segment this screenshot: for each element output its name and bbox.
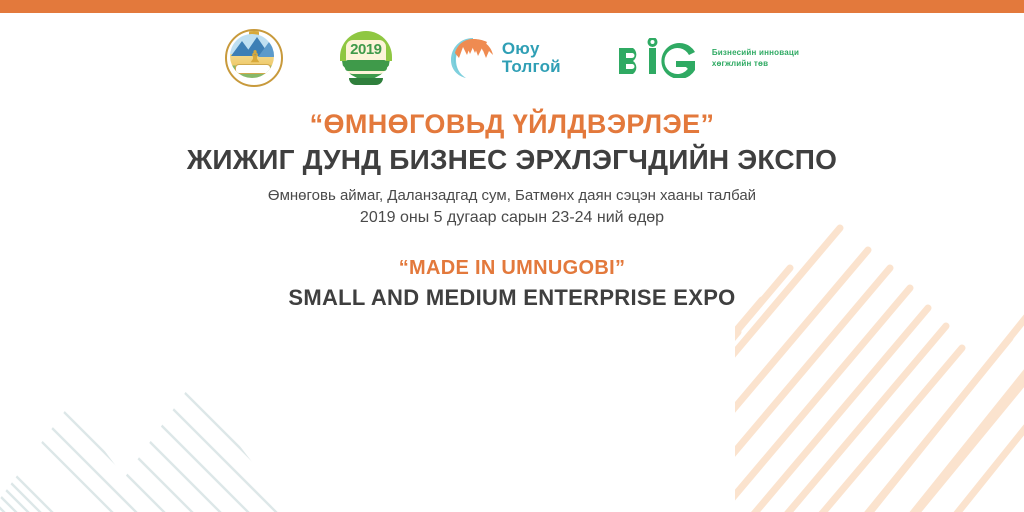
title-english-main: SMALL AND MEDIUM ENTERPRISE EXPO <box>0 284 1024 312</box>
big-logo-icon <box>617 38 703 78</box>
orange-accent-bar <box>0 0 1024 13</box>
logo-big-center: Бизнесийн инноваци хөгжлийн төв <box>617 38 799 78</box>
title-english-slogan: “MADE IN UMNUGOBI” <box>0 255 1024 281</box>
date-line: 2019 оны 5 дугаар сарын 23-24 ний өдөр <box>0 207 1024 229</box>
seal-inner-disc: ♝ <box>230 34 274 78</box>
seal-ribbon <box>235 64 271 74</box>
anniversary-badge-icon: 2019 <box>339 30 393 86</box>
poster-canvas: ♝ 2019 <box>0 0 1024 512</box>
badge-year-label: 2019 <box>347 41 385 58</box>
venue-line: Өмнөговь аймаг, Даланзадгад сум, Батмөнх… <box>0 185 1024 207</box>
logo-anniversary-badge: 2019 <box>339 30 393 86</box>
badge-base <box>349 78 383 85</box>
aimag-seal-icon: ♝ <box>225 29 283 87</box>
title-mongolian-main: ЖИЖИГ ДУНД БИЗНЕС ЭРХЛЭГЧДИЙН ЭКСПО <box>0 143 1024 177</box>
logo-strip: ♝ 2019 <box>0 26 1024 90</box>
big-tagline-line1: Бизнесийн инноваци <box>712 47 799 58</box>
right-peach-stripe-group-b <box>846 300 1024 512</box>
title-mongolian-slogan: “ӨМНӨГОВЬД ҮЙЛДВЭРЛЭЕ” <box>0 108 1024 141</box>
badge-subtext-band <box>345 60 387 71</box>
logo-oyu-tolgoi: Оюу Толгой <box>449 36 561 80</box>
oyu-tolgoi-logo-icon <box>449 36 497 80</box>
oyu-tolgoi-wordmark: Оюу Толгой <box>502 40 561 76</box>
oyu-tolgoi-line1: Оюу <box>502 40 561 58</box>
big-tagline-line2: хөгжлийн төв <box>712 58 799 69</box>
big-tagline: Бизнесийн инноваци хөгжлийн төв <box>712 47 799 69</box>
headline-block: “ӨМНӨГОВЬД ҮЙЛДВЭРЛЭЕ” ЖИЖИГ ДУНД БИЗНЕС… <box>0 108 1024 312</box>
oyu-tolgoi-line2: Толгой <box>502 58 561 76</box>
logo-umnugobi-aimag-seal: ♝ <box>225 29 283 87</box>
